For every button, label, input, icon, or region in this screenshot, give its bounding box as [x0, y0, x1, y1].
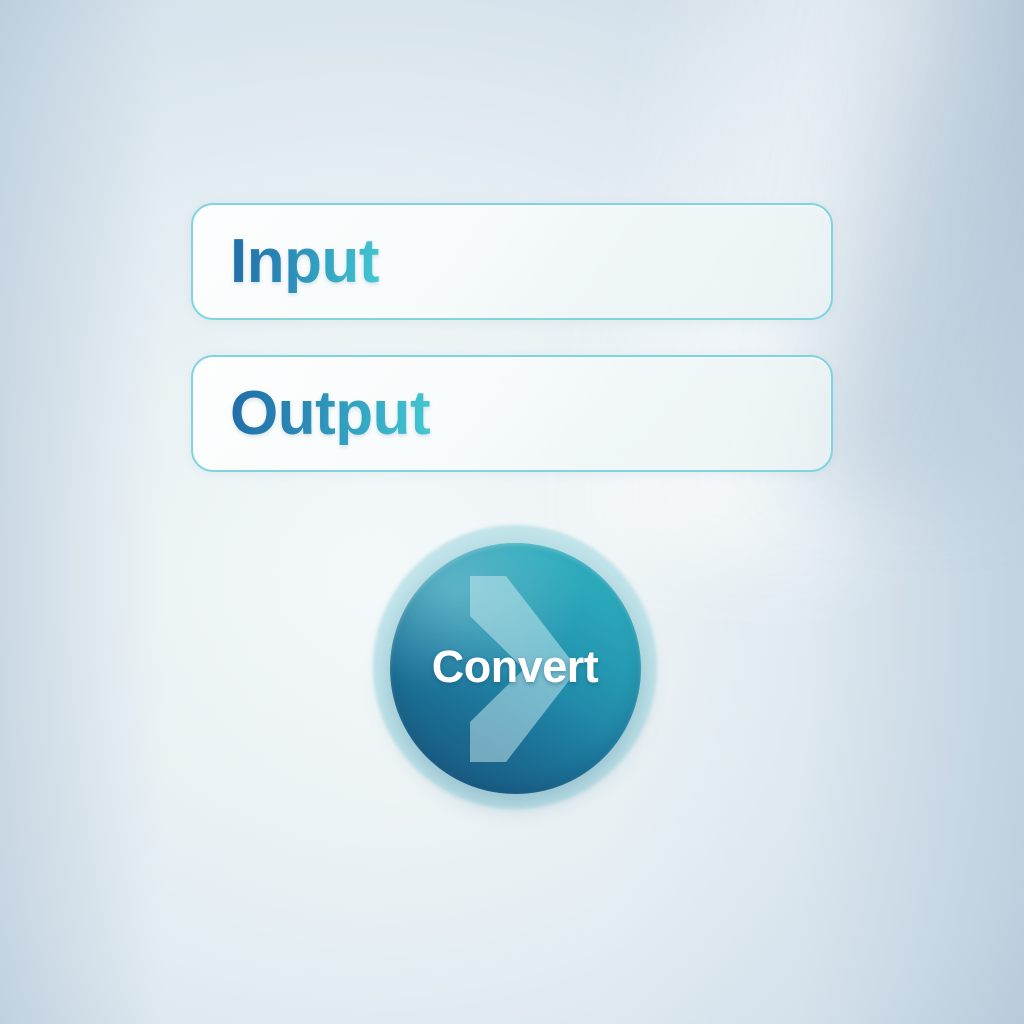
input-field-label: Input — [230, 231, 379, 293]
app-root: Input Output Convert — [0, 0, 1024, 1024]
converter-panel: Input Output Convert — [0, 0, 1024, 1024]
input-field[interactable]: Input — [191, 203, 833, 320]
output-field[interactable]: Output — [191, 355, 833, 472]
convert-button-disc — [390, 543, 641, 794]
convert-button[interactable]: Convert — [373, 525, 657, 809]
chevron-right-icon — [450, 576, 582, 762]
output-field-label: Output — [230, 383, 430, 445]
